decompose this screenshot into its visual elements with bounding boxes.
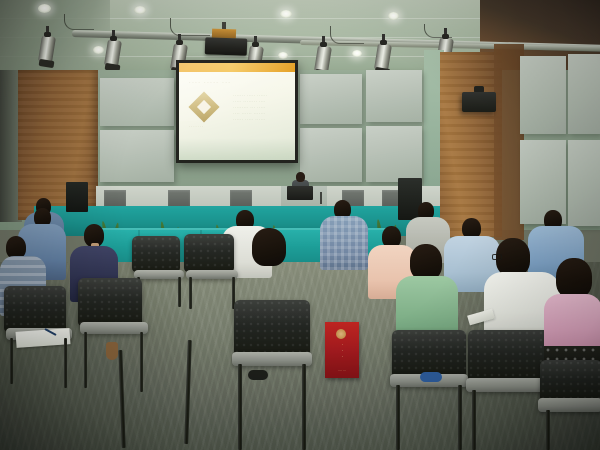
attendee-gold-stripe-polo-head [252, 228, 286, 266]
spotlight-6 [376, 42, 390, 72]
ceiling-cable-1 [64, 14, 94, 30]
acoustic-panel-corner-right-lower [568, 140, 600, 226]
chair-seat[interactable] [134, 270, 184, 279]
slide-title: ···· ····· ··· [189, 80, 231, 86]
chair-back-empty-left[interactable] [4, 286, 66, 332]
chair-leg [458, 385, 462, 450]
acoustic-panel-left-lower [100, 130, 174, 182]
floor-speaker-left [66, 182, 88, 212]
chair-leg [396, 385, 400, 450]
chair-leg [10, 338, 13, 384]
screen-shading [179, 138, 295, 160]
chair-back[interactable] [132, 236, 180, 272]
presenter-head [296, 172, 305, 182]
projection-screen[interactable]: ···· ····· ··· ······· ······· ····· ···… [176, 60, 298, 163]
acoustic-panel-mid-lower [300, 128, 362, 182]
spotlight-1 [40, 34, 54, 64]
downlight-5 [278, 52, 288, 59]
chair-seat-center-front[interactable] [232, 352, 312, 366]
attendee-pink-blouse-body [544, 294, 600, 352]
wood-panel-right [440, 52, 502, 237]
chair-seat[interactable] [186, 270, 238, 279]
downlight-1 [38, 4, 51, 13]
attendee-pink-blouse-head [556, 258, 592, 298]
red-gift-bag[interactable]: · · · ···· ··· [325, 322, 359, 378]
stage-dark-panel-2 [168, 190, 190, 207]
chair-leg [546, 410, 550, 450]
stage-dark-panel-3 [230, 190, 252, 207]
spotlight-2 [106, 38, 120, 68]
chair-back-green[interactable] [392, 330, 466, 378]
acoustic-panel-right-upper [366, 70, 422, 122]
chair-leg [472, 390, 476, 450]
acoustic-panel-right-lower [366, 126, 422, 182]
downlight-6 [352, 50, 362, 57]
slide-body-text: ······· ····· ······ ····· ········ ····… [233, 93, 291, 123]
chair-back-right-front[interactable] [468, 330, 550, 382]
chair-leg [302, 364, 306, 450]
wall-mounted-speaker [462, 92, 496, 112]
microphone-stand [320, 192, 322, 204]
lectern-laptop [287, 186, 313, 200]
acoustic-panel-corner-right-upper [568, 54, 600, 134]
projected-slide: ···· ····· ··· ······· ······· ····· ···… [179, 63, 295, 160]
stage-dark-panel-1 [104, 190, 126, 207]
ceiling-cable-2 [170, 18, 210, 36]
attendee-plaid-blue-body [320, 216, 368, 270]
chair-back-center-left[interactable] [78, 278, 142, 326]
chair-leg [84, 332, 87, 388]
slide-line: ······ ····· ······ [233, 117, 291, 123]
gift-bag-seal-icon [336, 329, 346, 339]
chair-leg [64, 338, 67, 388]
shoe [248, 370, 268, 380]
conference-room-photo: ···· ····· ··· ······· ······· ····· ···… [0, 0, 600, 450]
glasses-icon [492, 254, 502, 260]
acoustic-panel-left-upper [100, 78, 174, 126]
downlight-7 [388, 12, 399, 20]
gift-bag-caption: ···· ··· [329, 369, 355, 373]
slide-logo-center [197, 100, 211, 114]
downlight-4 [280, 10, 292, 18]
ceiling-cable-3 [330, 26, 364, 44]
shoe [106, 342, 118, 360]
chair-seat-center-left[interactable] [80, 322, 148, 334]
chair-leg [238, 364, 242, 450]
slide-logo-caption: ······· [189, 124, 204, 129]
chair-back-center-front[interactable] [234, 300, 310, 356]
gift-bag-text: · · · [334, 342, 351, 360]
acoustic-panel-mid-upper [300, 74, 362, 124]
ceiling-projector [205, 37, 248, 55]
acoustic-panel-far-right-upper [520, 56, 566, 134]
slide-diamond-logo-icon [188, 91, 219, 122]
chair-leg [140, 332, 143, 392]
chair-leg [178, 277, 181, 307]
acoustic-panel-far-right-lower [520, 140, 566, 224]
chair-leg [189, 277, 192, 309]
shoe-blue [420, 372, 442, 382]
downlight-3 [93, 46, 104, 54]
downlight-2 [134, 6, 146, 14]
chair-back[interactable] [184, 234, 234, 272]
slide-header-bar [179, 63, 295, 72]
chair-back-far-right[interactable] [540, 360, 600, 402]
attendee-green-top-head [410, 244, 442, 280]
